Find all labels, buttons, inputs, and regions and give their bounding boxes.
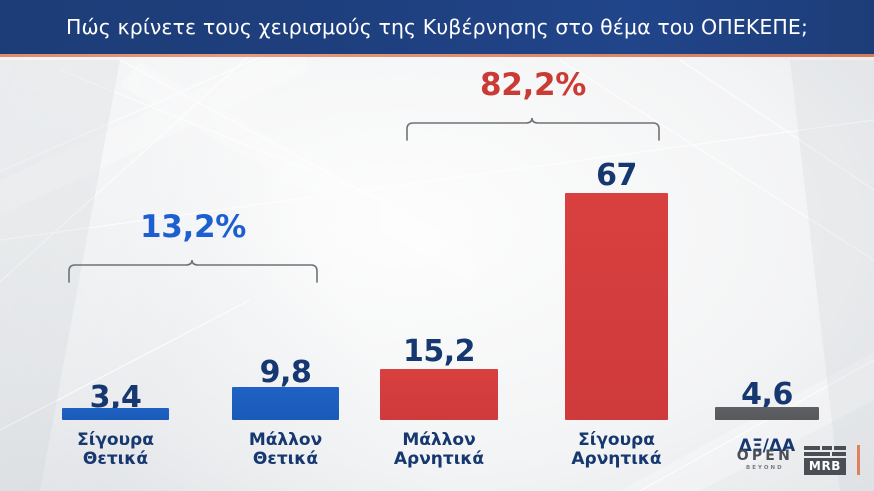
bar-category-label: Μάλλον Αρνητικά bbox=[362, 431, 516, 470]
bar-group-probably-negative: 15,2 Μάλλον Αρνητικά bbox=[380, 321, 498, 491]
page-title: Πώς κρίνετε τους χειρισμούς της Κυβέρνησ… bbox=[0, 0, 874, 54]
mrb-logo-wordmark: MRB bbox=[804, 458, 846, 475]
mrb-segment bbox=[832, 452, 846, 456]
mrb-segment bbox=[834, 446, 846, 450]
group-total-positive-label: 13,2% bbox=[68, 212, 318, 243]
open-logo-wordmark: OPEN bbox=[737, 449, 793, 463]
footer-divider bbox=[857, 445, 860, 475]
chart-plot-area: 13,2% 82,2% 3,4 Σίγουρα Θετικά 9,8 Μάλλο… bbox=[0, 57, 874, 491]
mrb-logo-bars bbox=[804, 446, 846, 456]
bar-rect bbox=[232, 387, 339, 420]
bar-value-label: 9,8 bbox=[232, 358, 339, 388]
bar-group-certainly-positive: 3,4 Σίγουρα Θετικά bbox=[62, 361, 169, 491]
bar-value-label: 15,2 bbox=[380, 337, 498, 367]
open-logo-tagline: BEYOND bbox=[746, 466, 784, 471]
footer-logos: OPEN BEYOND MRB bbox=[737, 443, 860, 477]
bar-category-label: Σίγουρα Αρνητικά bbox=[547, 431, 686, 470]
bar-rect bbox=[715, 407, 819, 420]
bracket-positive bbox=[68, 260, 318, 284]
mrb-bar-row bbox=[804, 446, 846, 450]
bar-value-label: 4,6 bbox=[715, 380, 819, 410]
bar-category-label: Μάλλον Θετικά bbox=[214, 431, 357, 470]
bar-rect bbox=[62, 408, 169, 420]
bar-group-certainly-negative: 67 Σίγουρα Αρνητικά bbox=[565, 161, 668, 491]
group-annotation-negative: 82,2% bbox=[406, 70, 660, 130]
mrb-bar-row bbox=[804, 452, 846, 456]
mrb-segment bbox=[804, 452, 830, 456]
bar-value-label: 67 bbox=[565, 161, 668, 191]
group-total-negative-label: 82,2% bbox=[406, 70, 660, 101]
bar-group-probably-positive: 9,8 Μάλλον Θετικά bbox=[232, 341, 339, 491]
bar-rect bbox=[565, 193, 668, 420]
bar-category-label: Σίγουρα Θετικά bbox=[44, 431, 187, 470]
open-beyond-logo: OPEN BEYOND bbox=[737, 449, 793, 471]
mrb-segment bbox=[804, 446, 820, 450]
group-annotation-positive: 13,2% bbox=[68, 212, 318, 272]
poll-infographic: Πώς κρίνετε τους χειρισμούς της Κυβέρνησ… bbox=[0, 0, 874, 491]
bar-rect bbox=[380, 369, 498, 420]
bracket-negative bbox=[406, 118, 660, 142]
mrb-logo: MRB bbox=[804, 446, 846, 475]
mrb-segment bbox=[822, 446, 832, 450]
